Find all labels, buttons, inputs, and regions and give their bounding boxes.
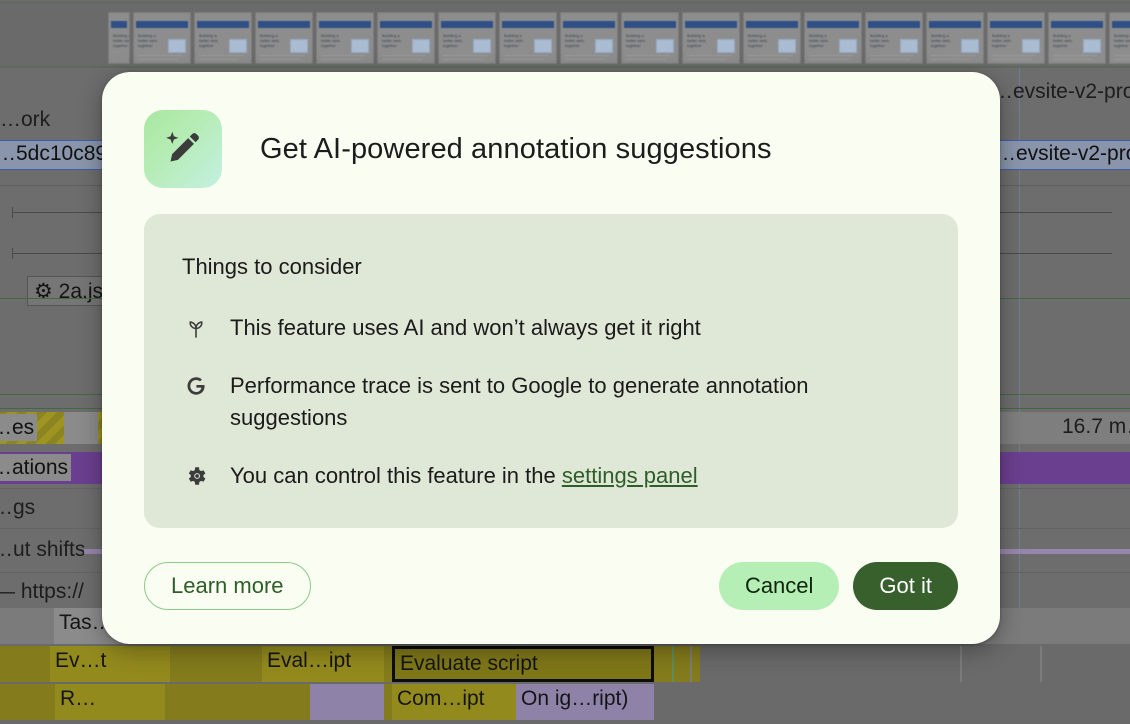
filmstrip-frame[interactable]: Building a better web, together [1048,12,1106,64]
filmstrip-frame[interactable]: Building a better web, together [743,12,801,64]
filmstrip-frame[interactable]: Building a better web, together [316,12,374,64]
filmstrip-frame-caption: Building a better web, together [504,33,530,48]
flame-block[interactable]: On ig…ript) [516,684,654,720]
filmstrip-frame-caption: Building a better web, together [138,33,164,48]
learn-more-button[interactable]: Learn more [144,562,311,610]
filmstrip-frame[interactable]: Building a better web, together [987,12,1045,64]
dialog-title: Get AI-powered annotation suggestions [260,133,772,166]
filmstrip-frame-caption: Building a better web, together [870,33,896,48]
list-item: Performance trace is sent to Google to g… [182,370,920,434]
filmstrip-frame[interactable]: Building a better web, together [926,12,984,64]
filmstrip-frame[interactable]: Building a better web, together [133,12,191,64]
flame-row: Ev…t Eval…ipt Evaluate script [0,646,1130,682]
flame-block[interactable]: R… [55,684,165,720]
flame-block[interactable] [310,684,384,720]
flame-block-label: R… [60,687,96,710]
dialog-footer: Learn more Cancel Got it [144,562,958,610]
flame-block-label: On ig…ript) [521,687,628,710]
filmstrip-frame[interactable]: Building a better web, together [865,12,923,64]
network-request-label: …evsite-v2-pro… [995,142,1130,165]
flame-block-label: Ev…t [55,649,106,672]
list-item-text-prefix: You can control this feature in the [230,463,562,488]
timing-bar[interactable] [64,412,98,444]
network-row-label: …ork [0,108,50,132]
network-request-bar[interactable]: …evsite-v2-pro… [990,140,1130,170]
filmstrip-frame-caption: Building a better web, together [199,33,225,48]
filmstrip-frame-caption: Building a better web, together [626,33,652,48]
flame-block[interactable]: Eval…ipt [262,646,384,682]
flame-block[interactable]: Ev…t [50,646,170,682]
ai-annotation-suggestions-dialog: Get AI-powered annotation suggestions Th… [102,72,1000,644]
dialog-actions: Cancel Got it [719,562,958,610]
things-to-consider-panel: Things to consider This feature uses AI … [144,214,958,528]
flame-block-label: Eval…ipt [267,649,351,672]
filmstrip-frame[interactable]: Building a better web, together [108,12,130,64]
cancel-button[interactable]: Cancel [719,562,839,610]
got-it-button[interactable]: Got it [853,562,958,610]
filmstrip-frame[interactable]: Building a better web, together [804,12,862,64]
list-item: You can control this feature in the sett… [182,460,920,492]
gear-icon: ⚙ [34,280,53,303]
filmstrip-frame-caption: Building a better web, together [809,33,835,48]
filmstrip-frame[interactable]: Building a better web, together [377,12,435,64]
filmstrip-frame-caption: Building a better web, together [443,33,469,48]
settings-panel-link[interactable]: settings panel [562,463,698,488]
network-row-label-right: …evsite-v2-pro… [992,80,1130,104]
filmstrip-track[interactable]: Building a better web, together Building… [0,0,1130,68]
filmstrip-frames: Building a better web, together Building… [108,12,1130,64]
flame-block-label: Evaluate script [400,652,538,675]
flame-row: R… Com…ipt On ig…ript) [0,684,1130,720]
filmstrip-frame-caption: Building a better web, together [687,33,713,48]
filmstrip-frame-caption: Building a better web, together [260,33,286,48]
dialog-header: Get AI-powered annotation suggestions [144,110,772,188]
list-item: This feature uses AI and won’t always ge… [182,312,920,344]
filmstrip-frame-caption: Building a better web, together [748,33,774,48]
list-item-text: This feature uses AI and won’t always ge… [230,312,701,344]
sprout-icon [182,314,210,342]
timing-value-right: 16.7 m… [1062,415,1130,439]
filmstrip-frame[interactable]: Building a better web, together [560,12,618,64]
filmstrip-frame[interactable]: Building a better web, together [438,12,496,64]
filmstrip-frame[interactable]: Building a better web, together [1109,12,1130,64]
filmstrip-frame-caption: Building a better web, together [1114,33,1130,48]
filmstrip-frame[interactable]: Building a better web, together [499,12,557,64]
flame-block-label: Com…ipt [397,687,485,710]
flame-block-selected[interactable]: Evaluate script [392,646,654,682]
filmstrip-frame-caption: Building a better web, together [565,33,591,48]
magic-pencil-icon [144,110,222,188]
google-g-icon [182,372,210,400]
track-label-layout-shifts: …ut shifts [0,538,85,562]
gear-icon [182,462,210,490]
filmstrip-frame[interactable]: Building a better web, together [621,12,679,64]
list-item-text: Performance trace is sent to Google to g… [230,370,890,434]
filmstrip-frame-caption: Building a better web, together [382,33,408,48]
list-item-text: You can control this feature in the sett… [230,460,698,492]
filmstrip-frame-caption: Building a better web, together [321,33,347,48]
things-to-consider-heading: Things to consider [182,254,920,280]
screen-root: Building a better web, together Building… [0,0,1130,724]
filmstrip-frame[interactable]: Building a better web, together [194,12,252,64]
timing-label: …es [0,414,37,441]
track-label-timings: …gs [0,496,35,520]
filmstrip-frame[interactable]: Building a better web, together [255,12,313,64]
filmstrip-frame-caption: Building a better web, together [992,33,1018,48]
filmstrip-frame-caption: Building a better web, together [113,33,130,48]
interaction-label: …ations [0,454,71,481]
filmstrip-frame-caption: Building a better web, together [931,33,957,48]
things-to-consider-list: This feature uses AI and won’t always ge… [182,312,920,492]
flame-block[interactable]: Com…ipt [392,684,516,720]
filmstrip-frame-caption: Building a better web, together [1053,33,1079,48]
track-label-url: — https:// [0,580,84,604]
filmstrip-frame[interactable]: Building a better web, together [682,12,740,64]
